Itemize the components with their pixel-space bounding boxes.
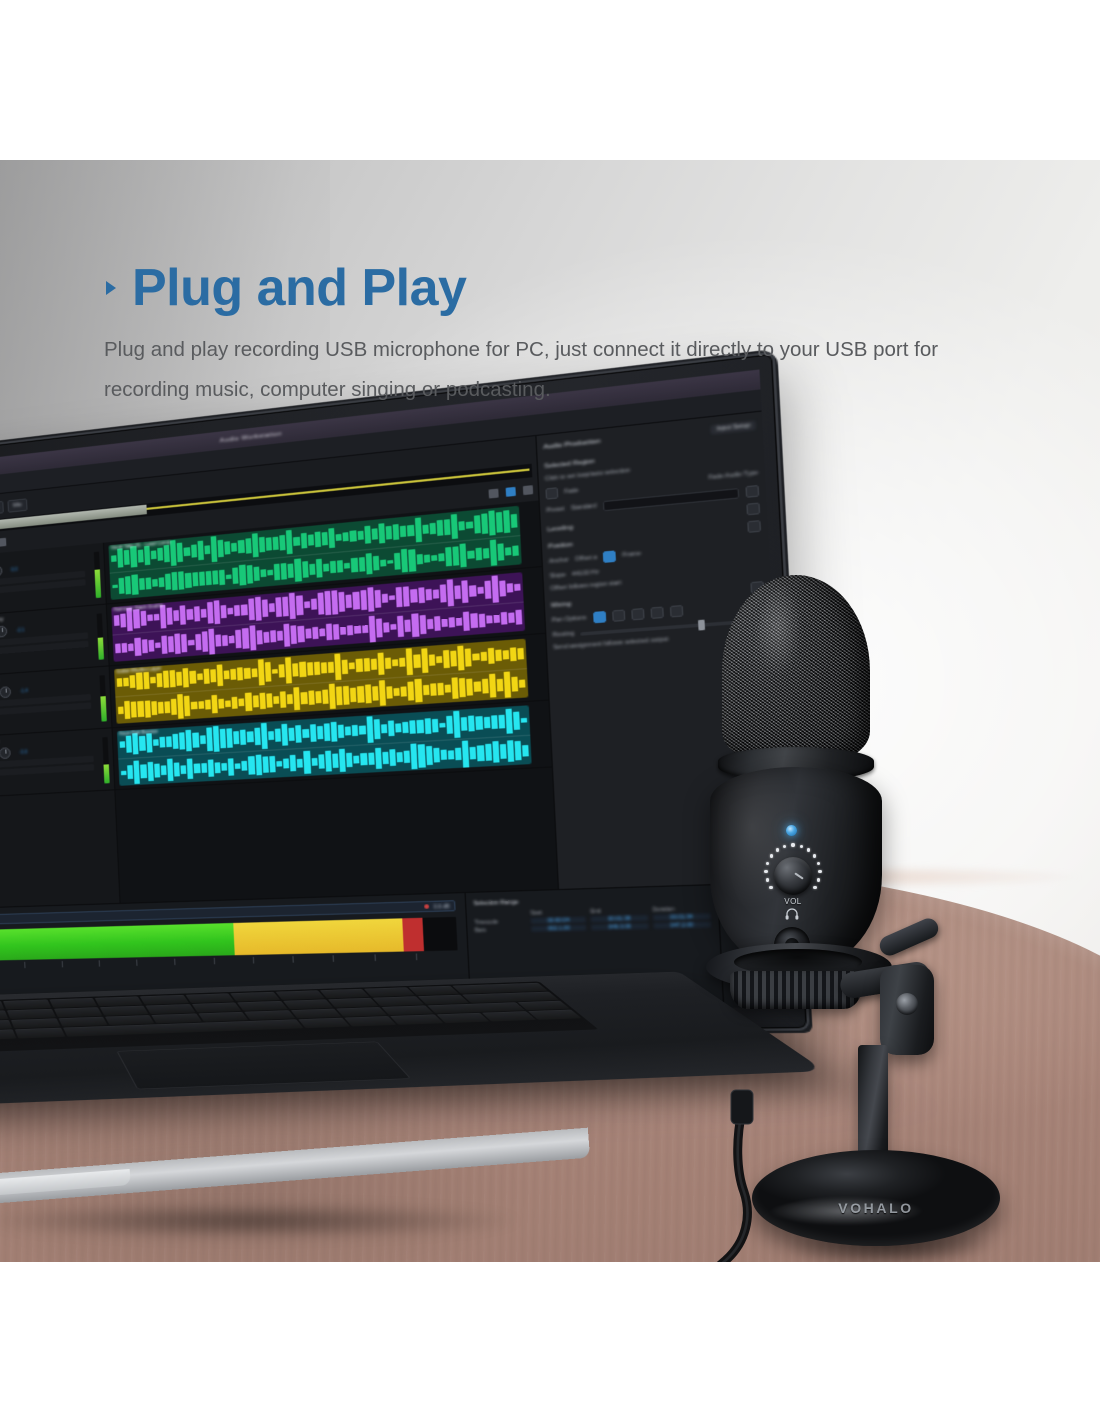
pivot-screw[interactable] (896, 993, 918, 1015)
gain-knob[interactable] (0, 565, 2, 577)
tilt-lever[interactable] (877, 915, 942, 958)
routing-label: Routing (553, 631, 575, 639)
gain-value: -1.4 (20, 688, 28, 694)
pan-options-label: Pan Options (552, 615, 587, 624)
mic-grille (722, 575, 870, 765)
preset-label: Preset (546, 506, 564, 515)
gain-value: -2.1 (16, 627, 24, 633)
pan-mode-5[interactable] (669, 605, 683, 618)
table-row[interactable]: Track 3 Guitar R6 -1.4 (0, 666, 111, 738)
preset-value: Standard (571, 503, 597, 512)
anchor-label: Anchor (549, 557, 569, 566)
grid-row-label: Bars (475, 926, 527, 933)
promo-description: Plug and play recording USB microphone f… (104, 330, 964, 410)
project-chip[interactable]: Vocal Session 01 (0, 501, 4, 519)
grid-corner (474, 910, 526, 917)
grid-col-start: Start (530, 909, 586, 916)
headphone-icon (785, 908, 799, 920)
inspector-section-leveling: Leveling (547, 524, 573, 533)
meter-red-clip (402, 918, 424, 952)
laptop-shadow (0, 1196, 630, 1246)
table-row[interactable]: Track 4 Keys 0 -3.0 (0, 728, 114, 798)
slope-value: 44100 Hz (572, 569, 599, 578)
page-title: Plug and Play (104, 262, 994, 314)
position-toggle[interactable] (747, 520, 761, 533)
promo-image: Audio Workstation (0, 0, 1100, 1422)
cloud-icon[interactable] (745, 485, 759, 498)
slope-label: Slope (550, 572, 566, 580)
gain-value: -3.0 (19, 749, 27, 755)
gain-knob[interactable] (0, 747, 10, 759)
grid-row-label: Timecode (474, 918, 526, 925)
grille-highlight (756, 587, 812, 707)
laptop-screen: Audio Workstation (0, 370, 792, 1018)
pan-mode-buttons[interactable] (592, 605, 682, 623)
gain-knob[interactable] (0, 625, 7, 637)
inspector-section-position: Position (548, 541, 573, 550)
grid-value[interactable]: 00:00:04 (531, 917, 587, 924)
inspector-title: Audio Production (543, 438, 601, 451)
mode-chip-label: Mix (13, 502, 22, 509)
trackpad[interactable] (116, 1042, 411, 1090)
usb-microphone: VOL VOHALO (700, 575, 960, 1195)
triangle-right-icon (104, 278, 118, 298)
meter-yellow-zone (234, 918, 404, 955)
grid-col-end: End (591, 907, 648, 914)
laptop-lid: Audio Workstation (0, 349, 813, 1040)
promo-text-block: Plug and Play Plug and play recording US… (104, 262, 994, 410)
pan-mode-2[interactable] (611, 610, 624, 622)
daw-window-title: Audio Workstation (220, 430, 283, 443)
master-bus-extra: 0.0 dB (434, 903, 450, 909)
fade-icon[interactable] (545, 487, 558, 500)
volume-knob-label: VOL (768, 897, 818, 906)
pan-mode-3[interactable] (631, 608, 644, 620)
gain-value: 0.0 (11, 567, 18, 573)
mode-chip[interactable]: Mix (8, 498, 28, 512)
leveling-toggle[interactable] (746, 502, 760, 515)
record-arm-icon[interactable] (506, 487, 516, 497)
fade-type-tag: Fade Audio Type (708, 470, 758, 482)
volume-knob[interactable] (774, 857, 812, 895)
page-title-text: Plug and Play (132, 262, 466, 314)
brand-logo: VOHALO (752, 1200, 1000, 1216)
inspector-section-mixing: Mixing (551, 601, 571, 609)
glue-icon[interactable] (0, 538, 6, 547)
record-icon[interactable] (424, 904, 429, 909)
daw-application: Audio Workstation (0, 370, 792, 1018)
inspector-chip[interactable]: Input Setup (711, 420, 756, 434)
anchor-opt-b: Frame (622, 551, 641, 559)
selection-info-grid: Start End Duration Timecode 00:00:04 00:… (474, 905, 711, 933)
loop-icon[interactable] (523, 485, 533, 495)
grid-value[interactable]: 002.1.00 (531, 925, 587, 932)
pan-mode-4[interactable] (650, 607, 663, 620)
pan-mode-1[interactable] (592, 611, 605, 623)
laptop: Audio Workstation (0, 460, 710, 1220)
grid-value[interactable]: 049.3.00 (591, 923, 648, 930)
anchor-radio[interactable] (603, 550, 616, 563)
anchor-opt-a: Offset a (575, 554, 597, 563)
gain-knob[interactable] (0, 686, 11, 698)
status-led-icon (786, 825, 797, 836)
metronome-icon[interactable] (489, 489, 499, 499)
fade-label: Fade (564, 487, 579, 495)
grid-value[interactable]: 00:01:38 (591, 915, 648, 922)
